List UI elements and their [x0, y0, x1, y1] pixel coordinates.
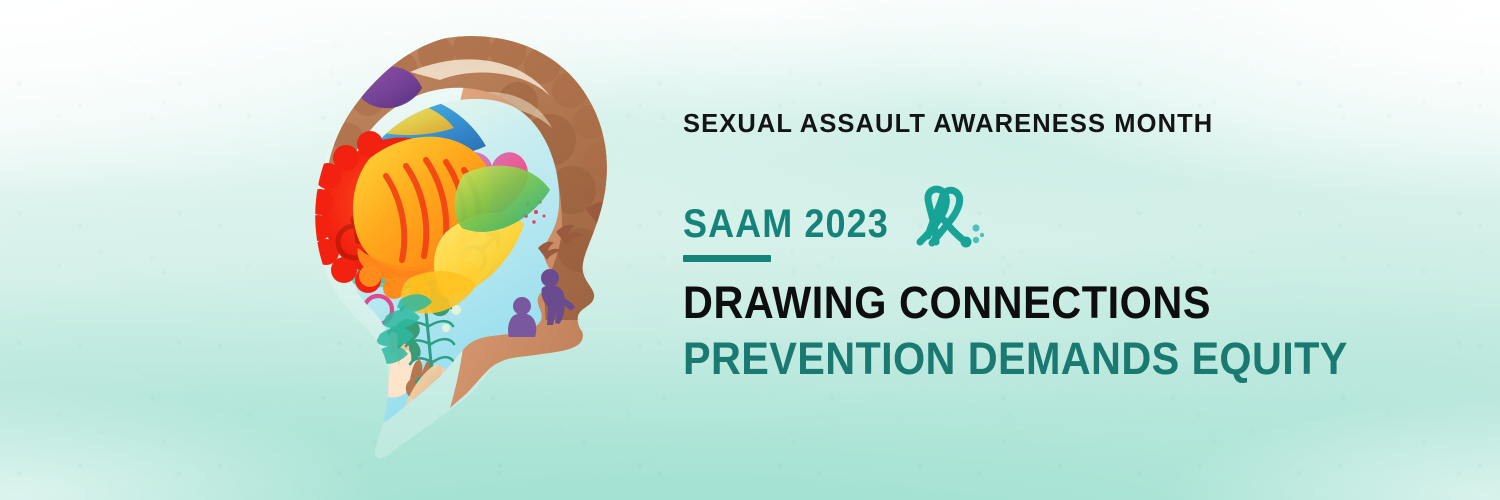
subheadline-text: PREVENTION DEMANDS EQUITY — [683, 336, 1253, 381]
head-silhouette — [250, 10, 700, 480]
divider-rule — [683, 255, 771, 262]
banner-text-block: SEXUAL ASSAULT AWARENESS MONTH SAAM 2023 — [683, 112, 1303, 381]
campaign-year-row: SAAM 2023 — [683, 185, 1303, 247]
headline-text: DRAWING CONNECTIONS — [683, 280, 1253, 325]
campaign-year-text: SAAM 2023 — [683, 204, 889, 247]
eyebrow-text: SEXUAL ASSAULT AWARENESS MONTH — [683, 112, 1303, 138]
watercolor-head-illustration — [250, 10, 700, 480]
saam-banner: SEXUAL ASSAULT AWARENESS MONTH SAAM 2023 — [0, 0, 1500, 500]
awareness-ribbon-icon — [906, 184, 984, 259]
